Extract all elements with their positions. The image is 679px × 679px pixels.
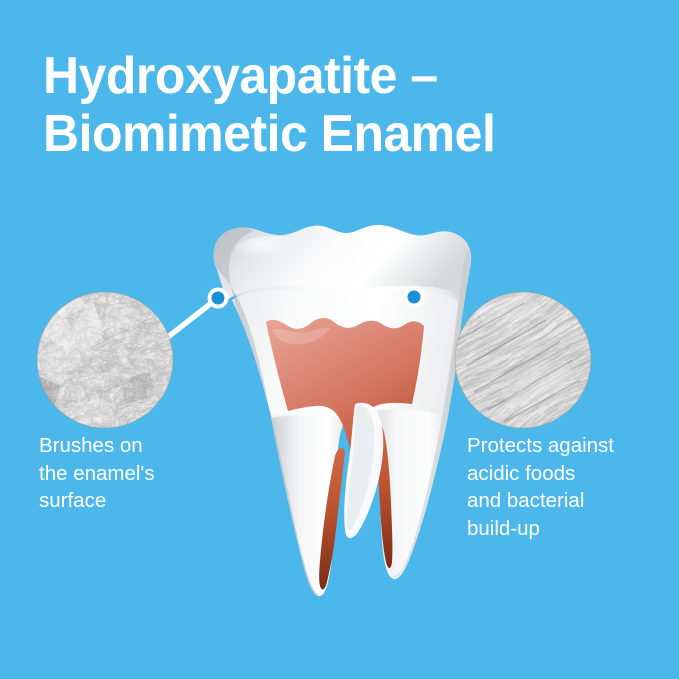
root-separator-lobe: [344, 403, 383, 538]
sem-inset-right-base: [455, 292, 591, 428]
root-canal-right: [376, 425, 392, 568]
title-line-1: Hydroxyapatite –: [43, 47, 619, 105]
tooth-pulp-chamber: [266, 318, 424, 457]
root-canal-left: [319, 448, 345, 590]
tooth-root-left: [272, 415, 347, 596]
connector-line-left: [150, 301, 214, 351]
sem-inset-right-edge: [455, 292, 591, 428]
tooth-dentin: [232, 290, 458, 416]
marker-right[interactable]: [404, 287, 425, 308]
connector-line-right: [418, 300, 481, 356]
crown-highlight-2: [352, 232, 444, 262]
tooth-right-shadow: [391, 249, 470, 577]
tooth-left-shadow: [213, 228, 318, 595]
title-line-2: Biomimetic Enamel: [43, 105, 619, 163]
sem-inset-left: [30, 285, 180, 435]
callout-markers: [208, 287, 425, 309]
sem-inset-left-base: [37, 292, 173, 428]
infographic-canvas: Hydroxyapatite – Biomimetic Enamel Brush…: [0, 0, 679, 679]
crown-highlight: [236, 236, 308, 264]
sem-inset-left-edge: [37, 292, 173, 428]
caption-right-text: Protects against acidic foods and bacter…: [467, 432, 672, 542]
page-title: Hydroxyapatite – Biomimetic Enamel: [43, 47, 643, 163]
connector-lines: [150, 300, 481, 356]
pulp-highlight: [272, 328, 330, 345]
tooth-illustration: [213, 225, 471, 596]
tooth-root-right: [366, 404, 450, 579]
caption-left-text: Brushes on the enamel's surface: [39, 432, 249, 515]
tooth-outline: [213, 225, 471, 596]
tooth-crown-enamel: [213, 225, 471, 301]
root-separator-shade: [347, 406, 374, 531]
marker-left[interactable]: [208, 288, 229, 309]
